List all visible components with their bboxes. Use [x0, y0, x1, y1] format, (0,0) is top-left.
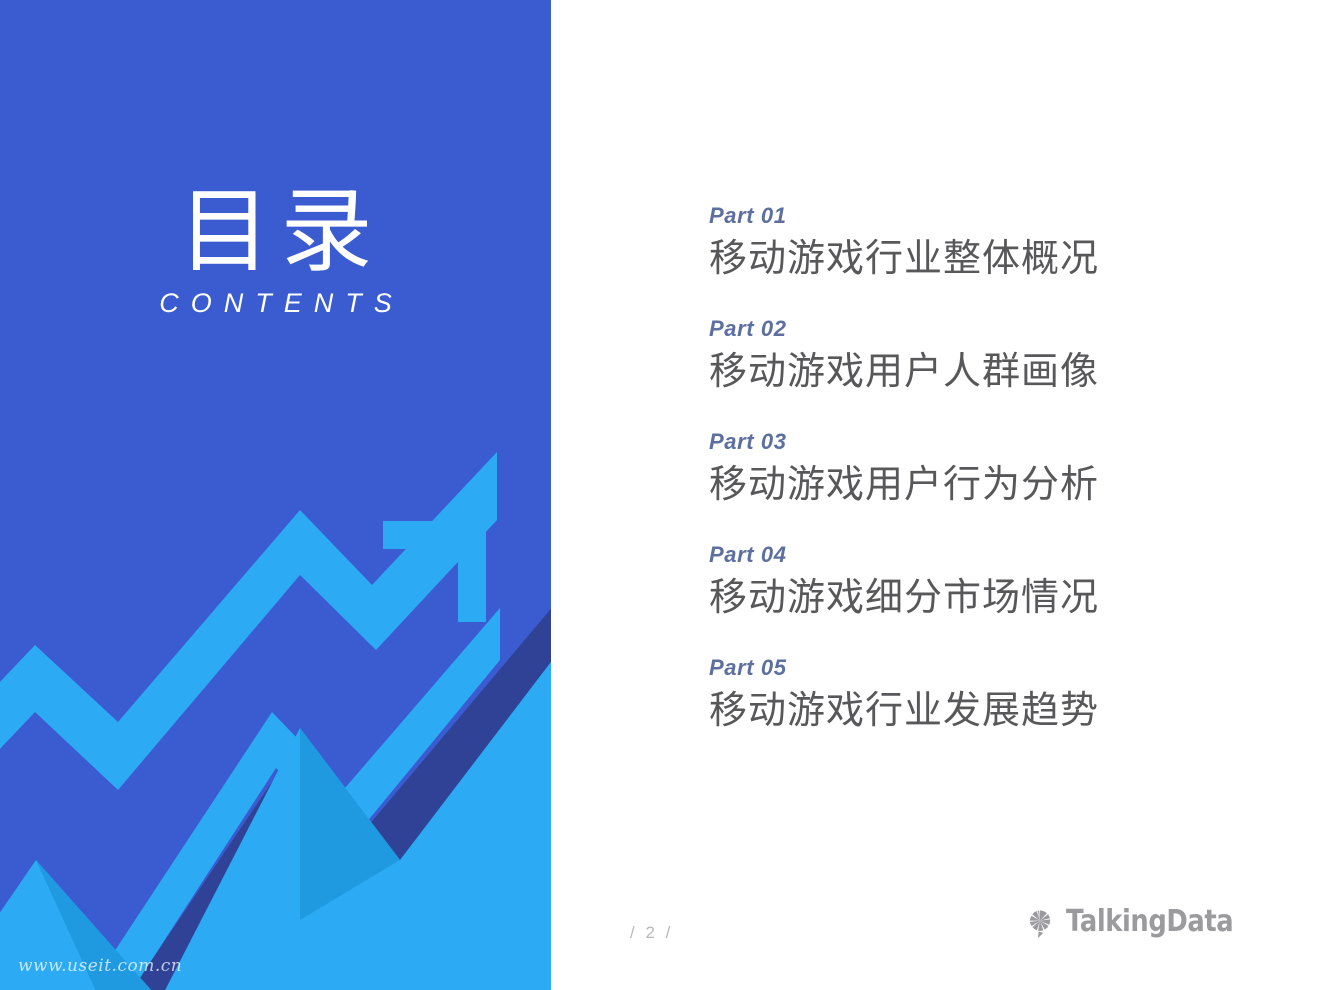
left-blue-panel: 目录 CONTENTS www.useit.com.cn	[0, 0, 551, 990]
toc-item-04[interactable]: Part 04 移动游戏细分市场情况	[709, 544, 1269, 617]
toc-part-label: Part 05	[709, 657, 1269, 679]
brand-logo: TalkingData	[1023, 905, 1260, 939]
brand-name: TalkingData	[1066, 907, 1233, 937]
toc-item-02[interactable]: Part 02 移动游戏用户人群画像	[709, 318, 1269, 391]
toc-section-title: 移动游戏用户行为分析	[709, 466, 1269, 504]
site-watermark: www.useit.com.cn	[18, 956, 182, 976]
toc-item-05[interactable]: Part 05 移动游戏行业发展趋势	[709, 657, 1269, 730]
toc-item-03[interactable]: Part 03 移动游戏用户行为分析	[709, 431, 1269, 504]
toc-section-title: 移动游戏行业整体概况	[709, 240, 1269, 278]
toc-part-label: Part 04	[709, 544, 1269, 566]
toc-part-label: Part 01	[709, 205, 1269, 227]
toc-section-title: 移动游戏用户人群画像	[709, 353, 1269, 391]
growth-arrow-artwork	[0, 0, 551, 990]
table-of-contents: Part 01 移动游戏行业整体概况 Part 02 移动游戏用户人群画像 Pa…	[709, 205, 1269, 730]
page-number: / 2 /	[630, 923, 673, 943]
toc-part-label: Part 02	[709, 318, 1269, 340]
slide-contents-page: 目录 CONTENTS www.useit.com.cn Part 01 移动游…	[0, 0, 1320, 990]
toc-item-01[interactable]: Part 01 移动游戏行业整体概况	[709, 205, 1269, 278]
pie-bubble-logo-icon	[1023, 905, 1057, 939]
toc-section-title: 移动游戏行业发展趋势	[709, 692, 1269, 730]
toc-section-title: 移动游戏细分市场情况	[709, 579, 1269, 617]
toc-part-label: Part 03	[709, 431, 1269, 453]
